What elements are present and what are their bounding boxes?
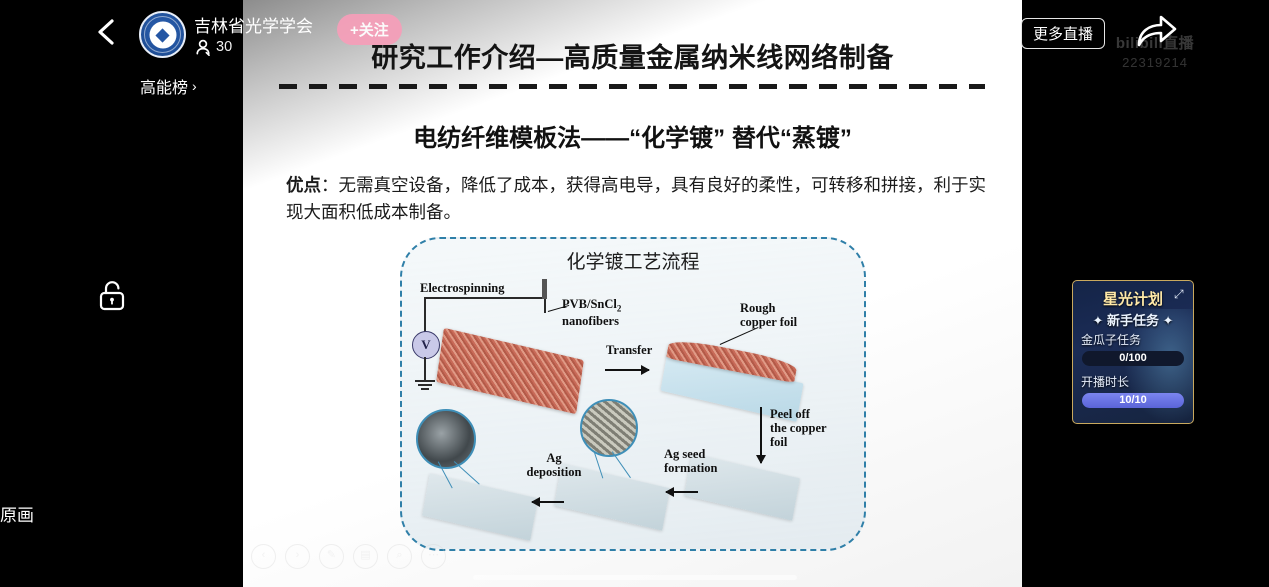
follow-button[interactable]: +关注: [337, 14, 402, 45]
label-peel-off: Peel off the copper foil: [770, 407, 862, 449]
back-button[interactable]: [90, 15, 124, 49]
label-ag-deposition: Ag deposition: [514, 451, 594, 479]
share-button[interactable]: [1133, 12, 1179, 52]
slide-title-divider: [279, 84, 985, 89]
ground-symbol: [415, 380, 435, 382]
starlight-subtitle: ✦ 新手任务 ✦: [1073, 310, 1193, 329]
viewer-icon: [194, 38, 212, 56]
zoom-inset-ag-deposition: [416, 409, 476, 469]
home-indicator: [473, 575, 797, 580]
label-nanofibers: PVB/SnCl2 nanofibers: [562, 297, 621, 328]
diagram-title: 化学镀工艺流程: [402, 247, 864, 274]
diagram-wire: [544, 297, 546, 313]
ground-symbol: [421, 388, 429, 390]
avatar[interactable]: [139, 11, 186, 58]
ag-seed-arrow: [666, 491, 698, 493]
label-transfer: Transfer: [606, 343, 652, 357]
label-rough-copper-foil: Rough copper foil: [740, 301, 850, 329]
more-live-button[interactable]: 更多直播: [1021, 18, 1105, 49]
label-ag-seed-formation: Ag seed formation: [664, 447, 744, 475]
starlight-task-1-label: 开播时长: [1081, 373, 1129, 390]
bottom-control-bar: 弹 弹 原画 发个弹幕呗~: [0, 501, 1269, 587]
live-player-screen: 研究工作介绍—高质量金属纳米线网络制备 电纺纤维模板法——“化学镀” 替代“蒸镀…: [0, 0, 1269, 587]
starlight-task-0-progress: 0/100: [1082, 351, 1184, 366]
transfer-arrow: [605, 369, 649, 371]
diagram-wire: [424, 297, 426, 333]
viewer-count-row: 30: [194, 38, 232, 56]
slide-body-rest: ：无需真空设备，降低了成本，获得高电导，具有良好的柔性，可转移和拼接，利于实现大…: [286, 175, 986, 222]
high-energy-rank-entry[interactable]: 高能榜 ›: [140, 74, 197, 98]
nanofiber-mat: [436, 328, 584, 415]
screen-lock-button[interactable]: [92, 275, 132, 315]
peel-off-arrow: [760, 407, 762, 463]
zoom-inset-ag-seed: [580, 399, 638, 457]
leader-line: [611, 451, 630, 478]
high-energy-rank-label: 高能榜: [140, 74, 188, 98]
starlight-program-widget[interactable]: 星光计划 ⤢ ✦ 新手任务 ✦ 金瓜子任务 0/100 开播时长 10/10: [1072, 280, 1194, 424]
starlight-task-0-label: 金瓜子任务: [1081, 331, 1141, 348]
unlocked-padlock-icon: [92, 275, 132, 315]
expand-arrows-icon[interactable]: ⤢: [1174, 287, 1189, 302]
viewer-count: 30: [216, 39, 232, 55]
video-slide-area[interactable]: 研究工作介绍—高质量金属纳米线网络制备 电纺纤维模板法——“化学镀” 替代“蒸镀…: [243, 0, 1022, 587]
starlight-task-0-value: 0/100: [1082, 351, 1184, 366]
starlight-task-1-value: 10/10: [1082, 393, 1184, 408]
quality-selector[interactable]: 原画: [0, 501, 1269, 526]
diagram-wire: [424, 357, 426, 381]
slide-body-lead: 优点: [286, 175, 321, 195]
society-emblem-icon: [149, 21, 176, 48]
slide-body-text: 优点：无需真空设备，降低了成本，获得高电导，具有良好的柔性，可转移和拼接，利于实…: [286, 172, 986, 226]
chevron-right-icon: ›: [192, 78, 197, 94]
streamer-name[interactable]: 吉林省光学学会: [194, 12, 313, 37]
starlight-task-1-progress: 10/10: [1082, 393, 1184, 408]
slide-subtitle: 电纺纤维模板法——“化学镀” 替代“蒸镀”: [243, 118, 1022, 153]
label-electrospinning: Electrospinning: [420, 281, 505, 295]
syringe-needle: [542, 279, 547, 299]
ground-symbol: [418, 384, 432, 386]
share-arrow-icon: [1133, 12, 1179, 52]
room-id: 22319214: [1095, 55, 1215, 70]
top-bar: 吉林省光学学会 30 +关注 高能榜 › 更多直播 bilibili直播 223…: [0, 0, 1269, 70]
leader-line: [720, 327, 759, 345]
voltage-source-icon: V: [412, 331, 440, 359]
diagram-wire: [424, 297, 546, 299]
